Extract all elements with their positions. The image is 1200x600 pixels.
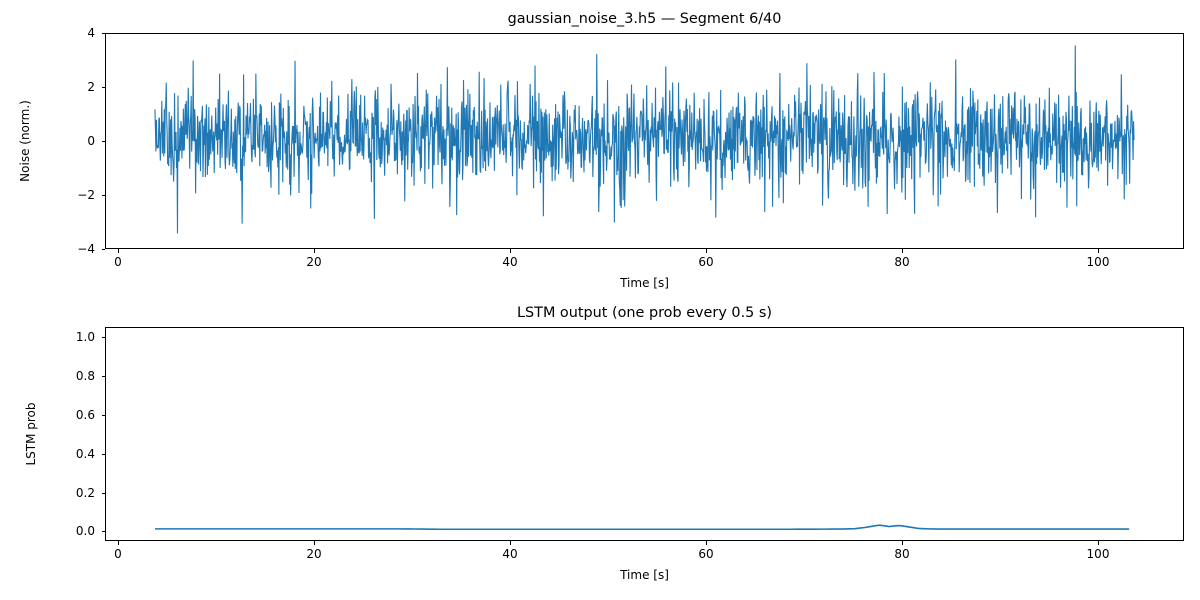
noise-xtick-mark [902,249,903,253]
lstm-xtick-label: 100 [1087,548,1110,560]
noise-xtick-mark [1098,249,1099,253]
noise-ytick-label: 0 [68,135,95,147]
lstm-ytick-label: 1.0 [58,331,95,343]
lstm-axes-title: LSTM output (one prob every 0.5 s) [105,306,1184,320]
lstm-probability-canvas [106,328,1183,540]
noise-ytick-mark [102,87,106,88]
noise-ytick-mark [102,195,106,196]
noise-xtick-mark [510,249,511,253]
lstm-ytick-mark [102,337,106,338]
noise-xtick-label: 20 [306,256,321,268]
noise-waveform-canvas [106,34,1183,248]
lstm-xtick-label: 0 [114,548,122,560]
noise-xtick-mark [118,249,119,253]
noise-xtick-label: 80 [894,256,909,268]
noise-yaxis-label: Noise (norm.) [19,61,31,221]
lstm-ytick-label: 0.8 [58,370,95,382]
noise-ytick-mark [102,33,106,34]
lstm-yaxis-label: LSTM prob [25,354,37,514]
lstm-series-line [155,525,1129,529]
noise-ytick-mark [102,141,106,142]
lstm-xtick-mark [510,541,511,545]
noise-xtick-label: 60 [698,256,713,268]
matplotlib-figure: gaussian_noise_3.h5 — Segment 6/40 −4 −2… [0,0,1200,600]
lstm-ytick-mark [102,454,106,455]
noise-series-line [155,45,1134,233]
noise-axes-title: gaussian_noise_3.h5 — Segment 6/40 [105,12,1184,26]
noise-xtick-mark [706,249,707,253]
lstm-xtick-mark [314,541,315,545]
lstm-xtick-label: 60 [698,548,713,560]
lstm-xtick-mark [902,541,903,545]
noise-xaxis-label: Time [s] [105,277,1184,289]
noise-xtick-label: 0 [114,256,122,268]
noise-xtick-label: 100 [1087,256,1110,268]
lstm-ytick-label: 0.4 [58,448,95,460]
lstm-ytick-mark [102,531,106,532]
lstm-xtick-label: 20 [306,548,321,560]
noise-ytick-label: 2 [68,81,95,93]
lstm-ytick-label: 0.0 [58,525,95,537]
lstm-ytick-mark [102,376,106,377]
noise-plot-area [105,33,1184,249]
lstm-xtick-label: 40 [502,548,517,560]
noise-ytick-label: 4 [68,27,95,39]
noise-ytick-label: −2 [68,189,95,201]
lstm-xtick-label: 80 [894,548,909,560]
noise-xtick-mark [314,249,315,253]
noise-ytick-mark [102,249,106,250]
lstm-ytick-mark [102,415,106,416]
lstm-xaxis-label: Time [s] [105,569,1184,581]
noise-ytick-label: −4 [68,243,95,255]
lstm-xtick-mark [706,541,707,545]
lstm-plot-area [105,327,1184,541]
lstm-ytick-label: 0.2 [58,487,95,499]
noise-xtick-label: 40 [502,256,517,268]
lstm-ytick-mark [102,493,106,494]
lstm-xtick-mark [1098,541,1099,545]
lstm-xtick-mark [118,541,119,545]
lstm-ytick-label: 0.6 [58,409,95,421]
